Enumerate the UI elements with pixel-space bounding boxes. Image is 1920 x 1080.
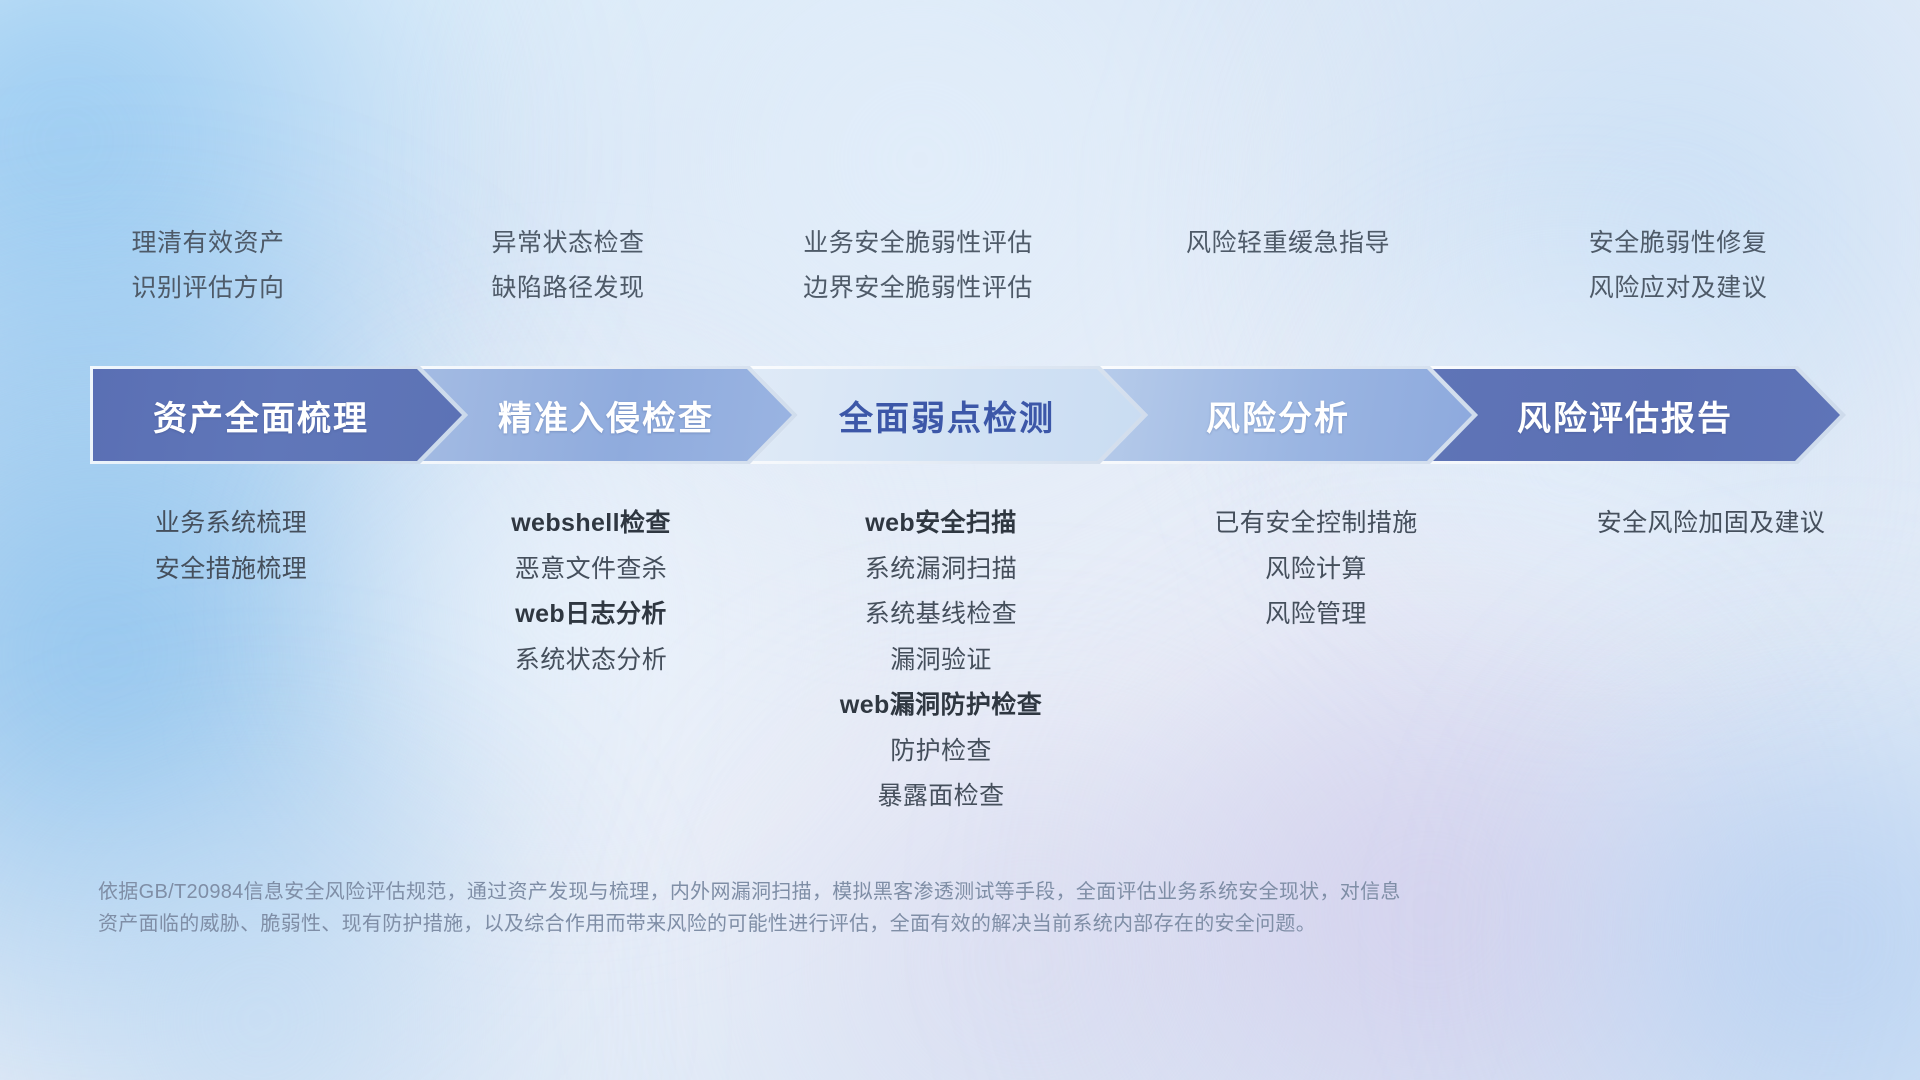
top-notes-weakness-detection: 业务安全脆弱性评估 边界安全脆弱性评估 — [738, 228, 1098, 305]
list-item: 业务系统梳理 — [155, 508, 307, 539]
list-item: web日志分析 — [515, 599, 666, 630]
top-note: 业务安全脆弱性评估 — [803, 228, 1033, 259]
bottom-items-risk-analysis: 已有安全控制措施 风险计算 风险管理 — [1126, 508, 1506, 812]
top-note: 理清有效资产 — [131, 228, 284, 259]
chevron-label: 风险评估报告 — [1517, 391, 1733, 440]
list-item: web漏洞防护检查 — [840, 690, 1042, 721]
list-item: 漏洞验证 — [890, 645, 992, 676]
chevron-label: 全面弱点检测 — [839, 391, 1055, 440]
chevron-label: 资产全面梳理 — [153, 391, 369, 440]
top-notes-assessment-report: 安全脆弱性修复 风险应对及建议 — [1478, 228, 1878, 305]
list-item: 系统基线检查 — [865, 599, 1017, 630]
list-item: web安全扫描 — [865, 508, 1016, 539]
list-item: 风险管理 — [1265, 599, 1367, 630]
bottom-items-intrusion-check: webshell检查 恶意文件查杀 web日志分析 系统状态分析 — [426, 508, 756, 812]
chevron-stage-weakness-detection[interactable]: 全面弱点检测 — [753, 366, 1145, 464]
top-note: 异常状态检查 — [491, 228, 644, 259]
chevron-stage-risk-analysis[interactable]: 风险分析 — [1103, 366, 1475, 464]
bottom-items-row: 业务系统梳理 安全措施梳理 webshell检查 恶意文件查杀 web日志分析 … — [0, 508, 1920, 812]
top-note: 识别评估方向 — [131, 273, 284, 304]
footer-line-2: 资产面临的威胁、脆弱性、现有防护措施，以及综合作用而带来风险的可能性进行评估，全… — [98, 908, 1658, 940]
top-notes-asset-inventory: 理清有效资产 识别评估方向 — [18, 228, 398, 305]
list-item: 安全风险加固及建议 — [1597, 508, 1826, 539]
top-notes-row: 理清有效资产 识别评估方向 异常状态检查 缺陷路径发现 业务安全脆弱性评估 边界… — [0, 228, 1920, 305]
list-item: 已有安全控制措施 — [1214, 508, 1417, 539]
chevron-stage-intrusion-check[interactable]: 精准入侵检查 — [423, 366, 795, 464]
slide-canvas: 理清有效资产 识别评估方向 异常状态检查 缺陷路径发现 业务安全脆弱性评估 边界… — [0, 0, 1920, 1080]
top-note: 边界安全脆弱性评估 — [803, 273, 1033, 304]
top-note: 风险应对及建议 — [1589, 273, 1768, 304]
bottom-items-assessment-report: 安全风险加固及建议 — [1506, 508, 1916, 812]
chevron-stage-assessment-report[interactable]: 风险评估报告 — [1433, 366, 1843, 464]
list-item: 恶意文件查杀 — [515, 554, 667, 585]
top-notes-intrusion-check: 异常状态检查 缺陷路径发现 — [398, 228, 738, 305]
list-item: 安全措施梳理 — [155, 554, 307, 585]
chevron-stage-asset-inventory[interactable]: 资产全面梳理 — [93, 366, 465, 464]
list-item: 系统状态分析 — [515, 645, 667, 676]
top-note: 缺陷路径发现 — [491, 273, 644, 304]
footer-description: 依据GB/T20984信息安全风险评估规范，通过资产发现与梳理，内外网漏洞扫描，… — [98, 876, 1658, 941]
chevron-label: 精准入侵检查 — [498, 391, 714, 440]
list-item: 暴露面检查 — [877, 781, 1004, 812]
process-chevron-band: 资产全面梳理 精准入侵检查 全面弱点检测 风险分析 风险评估报告 — [90, 366, 1846, 464]
list-item: 防护检查 — [890, 736, 992, 767]
top-note: 风险轻重缓急指导 — [1186, 228, 1390, 259]
top-notes-risk-analysis: 风险轻重缓急指导 — [1098, 228, 1478, 305]
top-note: 安全脆弱性修复 — [1589, 228, 1768, 259]
footer-line-1: 依据GB/T20984信息安全风险评估规范，通过资产发现与梳理，内外网漏洞扫描，… — [98, 876, 1658, 908]
bottom-items-weakness-detection: web安全扫描 系统漏洞扫描 系统基线检查 漏洞验证 web漏洞防护检查 防护检… — [756, 508, 1126, 812]
list-item: 系统漏洞扫描 — [865, 554, 1017, 585]
bottom-items-asset-inventory: 业务系统梳理 安全措施梳理 — [36, 508, 426, 812]
list-item: 风险计算 — [1265, 554, 1367, 585]
chevron-label: 风险分析 — [1206, 391, 1350, 440]
list-item: webshell检查 — [511, 508, 671, 539]
